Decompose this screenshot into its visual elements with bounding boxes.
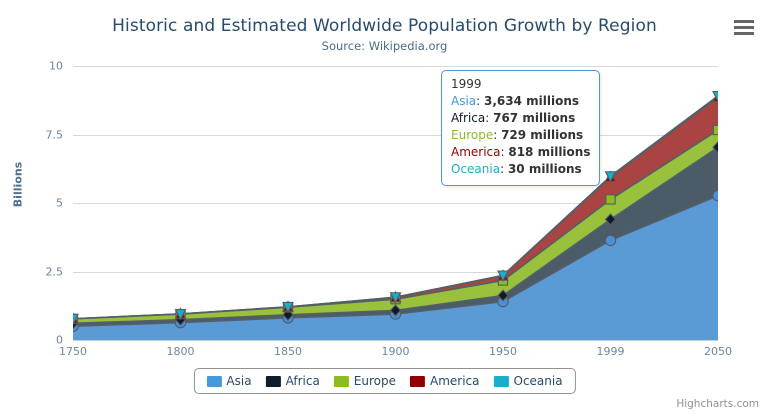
x-axis: 1750180018501900195019992050 xyxy=(73,345,718,363)
marker-layer xyxy=(73,66,718,340)
legend-item-oceania[interactable]: Oceania xyxy=(494,374,563,388)
tooltip: 1999 Asia: 3,634 millionsAfrica: 767 mil… xyxy=(441,70,600,186)
legend-swatch xyxy=(410,376,425,387)
hamburger-menu-icon[interactable] xyxy=(731,16,757,38)
legend-item-america[interactable]: America xyxy=(410,374,480,388)
y-axis: 02.557.510 xyxy=(0,66,63,340)
tooltip-series-value: 30 millions xyxy=(508,162,582,176)
tooltip-row: Europe: 729 millions xyxy=(451,127,590,144)
tooltip-series-value: 729 millions xyxy=(501,128,583,142)
legend-swatch xyxy=(266,376,281,387)
y-axis-tick-label: 2.5 xyxy=(3,265,63,278)
x-axis-tick-label: 1850 xyxy=(258,345,318,358)
data-point-marker-europe[interactable] xyxy=(713,125,718,134)
tooltip-series-value: 818 millions xyxy=(508,145,590,159)
x-axis-tick-label: 2050 xyxy=(688,345,748,358)
menu-bar-2 xyxy=(734,26,754,29)
plot-area xyxy=(73,66,718,340)
tooltip-header: 1999 xyxy=(451,77,590,91)
data-point-marker-asia[interactable] xyxy=(713,190,718,200)
data-point-marker-asia[interactable] xyxy=(605,235,615,245)
chart-title: Historic and Estimated Worldwide Populat… xyxy=(0,16,769,36)
data-point-marker-africa[interactable] xyxy=(606,214,616,225)
legend-swatch xyxy=(206,376,221,387)
menu-bar-3 xyxy=(734,32,754,35)
legend-item-asia[interactable]: Asia xyxy=(206,374,251,388)
legend-item-africa[interactable]: Africa xyxy=(266,374,320,388)
tooltip-series-name: Asia xyxy=(451,94,476,108)
credits-label: Highcharts.com xyxy=(676,398,759,410)
highcharts-chart: Historic and Estimated Worldwide Populat… xyxy=(0,0,769,416)
y-axis-tick-label: 10 xyxy=(3,60,63,73)
x-axis-tick-label: 1750 xyxy=(43,345,103,358)
data-point-marker-europe[interactable] xyxy=(606,195,615,204)
x-axis-line xyxy=(73,340,718,341)
chart-legend[interactable]: AsiaAfricaEuropeAmericaOceania xyxy=(193,368,575,394)
chart-subtitle: Source: Wikipedia.org xyxy=(0,39,769,53)
legend-label: Africa xyxy=(286,374,320,388)
y-axis-title: Billions xyxy=(12,145,25,225)
tooltip-row: America: 818 millions xyxy=(451,144,590,161)
legend-swatch xyxy=(334,376,349,387)
legend-swatch xyxy=(494,376,509,387)
tooltip-row: Africa: 767 millions xyxy=(451,110,590,127)
tooltip-row: Asia: 3,634 millions xyxy=(451,93,590,110)
legend-label: America xyxy=(430,374,480,388)
legend-label: Asia xyxy=(226,374,251,388)
tooltip-series-value: 767 millions xyxy=(493,111,575,125)
legend-label: Oceania xyxy=(514,374,563,388)
menu-bar-1 xyxy=(734,20,754,23)
tooltip-rows: Asia: 3,634 millionsAfrica: 767 millions… xyxy=(451,93,590,178)
tooltip-series-name: Europe xyxy=(451,128,493,142)
x-axis-tick-label: 1950 xyxy=(473,345,533,358)
tooltip-separator: : xyxy=(500,162,508,176)
tooltip-row: Oceania: 30 millions xyxy=(451,161,590,178)
tooltip-series-name: America xyxy=(451,145,501,159)
x-axis-tick-label: 1999 xyxy=(581,345,641,358)
tooltip-separator: : xyxy=(485,111,493,125)
y-axis-tick-label: 7.5 xyxy=(3,128,63,141)
x-axis-tick-label: 1800 xyxy=(151,345,211,358)
legend-label: Europe xyxy=(354,374,396,388)
tooltip-separator: : xyxy=(476,94,484,108)
legend-item-europe[interactable]: Europe xyxy=(334,374,396,388)
tooltip-series-name: Africa xyxy=(451,111,485,125)
tooltip-separator: : xyxy=(493,128,501,142)
data-point-marker-africa[interactable] xyxy=(713,142,718,153)
tooltip-series-value: 3,634 millions xyxy=(484,94,579,108)
x-axis-tick-label: 1900 xyxy=(366,345,426,358)
tooltip-series-name: Oceania xyxy=(451,162,500,176)
